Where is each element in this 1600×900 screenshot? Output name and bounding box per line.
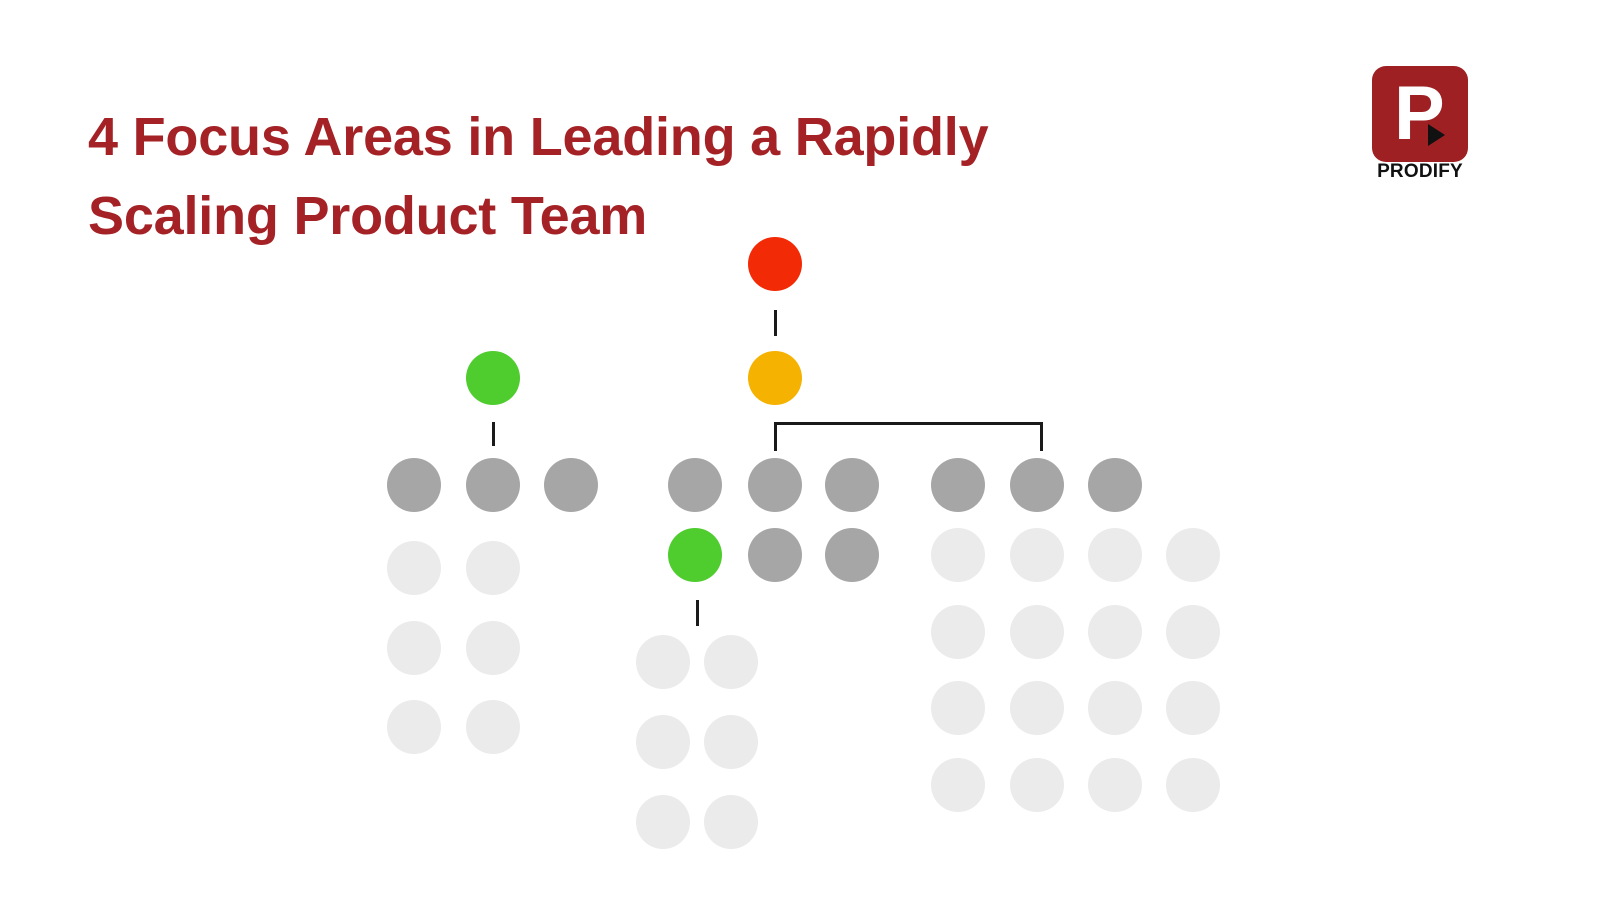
org-node-l7-c10-r5 [1166, 758, 1220, 812]
org-node-l6-c9-r4 [1088, 681, 1142, 735]
org-node-l4-c5-r2 [748, 528, 802, 582]
org-node-l6-m2-r4 [704, 715, 758, 769]
connector-line [774, 310, 777, 336]
connector-bracket [774, 422, 1043, 451]
org-node-l5-c9-r3 [1088, 605, 1142, 659]
org-node-l5-m1-r3 [636, 635, 690, 689]
org-node-l4-c7-r2 [931, 528, 985, 582]
org-chart-diagram [0, 0, 1600, 900]
org-node-l3-c3-r1 [544, 458, 598, 512]
org-node-l5-c1-r3 [387, 621, 441, 675]
org-node-l4-c9-r2 [1088, 528, 1142, 582]
org-node-l5-c2-r3 [466, 621, 520, 675]
org-node-l5-m2-r3 [704, 635, 758, 689]
connector-line [492, 422, 495, 446]
org-node-l7-c7-r5 [931, 758, 985, 812]
org-node-l7-c8-r5 [1010, 758, 1064, 812]
org-node-l5-c10-r3 [1166, 605, 1220, 659]
org-node-l3-c7-r1 [931, 458, 985, 512]
org-node-l3-c1-r1 [387, 458, 441, 512]
org-node-l7-c9-r5 [1088, 758, 1142, 812]
org-node-l4-c6-r2 [825, 528, 879, 582]
org-node-l4-c10-r2 [1166, 528, 1220, 582]
org-node-l6-c1-r4 [387, 700, 441, 754]
org-node-l4-c8-r2 [1010, 528, 1064, 582]
org-node-l4-c2-r2 [466, 541, 520, 595]
org-node-l6-c8-r4 [1010, 681, 1064, 735]
org-node-l6-c10-r4 [1166, 681, 1220, 735]
org-node-lead-left [466, 351, 520, 405]
org-node-l3-c5-r1 [748, 458, 802, 512]
org-node-l3-c6-r1 [825, 458, 879, 512]
org-node-l3-c4-r1 [668, 458, 722, 512]
org-node-l7-m2-r5 [704, 795, 758, 849]
connector-line [696, 600, 699, 626]
org-node-ceo [748, 237, 802, 291]
org-node-l5-c8-r3 [1010, 605, 1064, 659]
org-node-l4-green [668, 528, 722, 582]
org-node-l4-c1-r2 [387, 541, 441, 595]
org-node-l6-c2-r4 [466, 700, 520, 754]
slide-canvas: 4 Focus Areas in Leading a Rapidly Scali… [0, 0, 1600, 900]
org-node-l3-c2-r1 [466, 458, 520, 512]
org-node-l6-m1-r4 [636, 715, 690, 769]
org-node-l5-c7-r3 [931, 605, 985, 659]
org-node-l7-m1-r5 [636, 795, 690, 849]
org-node-l3-c8-r1 [1010, 458, 1064, 512]
org-node-l6-c7-r4 [931, 681, 985, 735]
org-node-vp-product [748, 351, 802, 405]
org-node-l3-c9-r1 [1088, 458, 1142, 512]
